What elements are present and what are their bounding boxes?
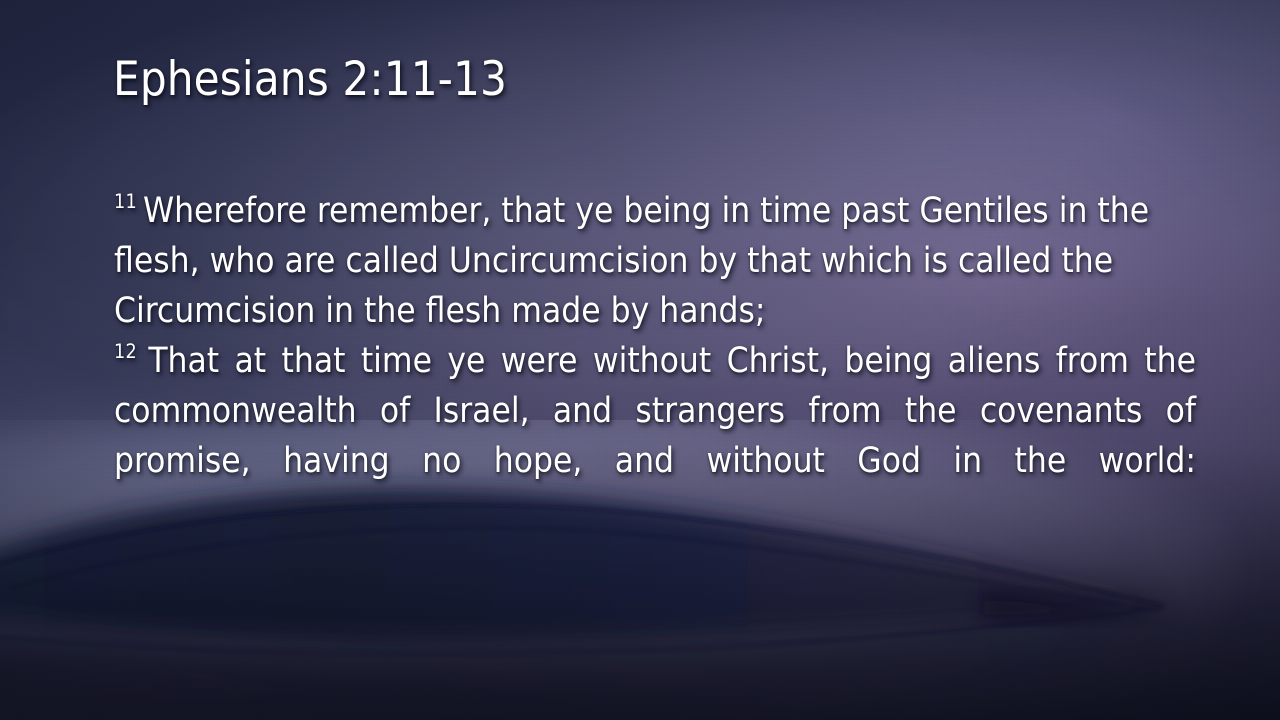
verse-text: Wherefore remember, that ye being in tim… — [114, 191, 1149, 331]
scripture-slide: Ephesians 2:11-13 11 Wherefore remember,… — [0, 0, 1280, 720]
page-title: Ephesians 2:11-13 — [113, 55, 1173, 105]
verse-text: That at that time ye were without Christ… — [114, 341, 1196, 481]
verse-number: 12 — [114, 340, 148, 363]
scripture-body: 11 Wherefore remember, that ye being in … — [114, 186, 1196, 536]
verse-paragraph: 11 Wherefore remember, that ye being in … — [114, 186, 1196, 336]
verse-number: 11 — [114, 190, 143, 213]
slide-content: Ephesians 2:11-13 11 Wherefore remember,… — [0, 0, 1280, 720]
verse-paragraph: 12 That at that time ye were without Chr… — [114, 336, 1196, 536]
